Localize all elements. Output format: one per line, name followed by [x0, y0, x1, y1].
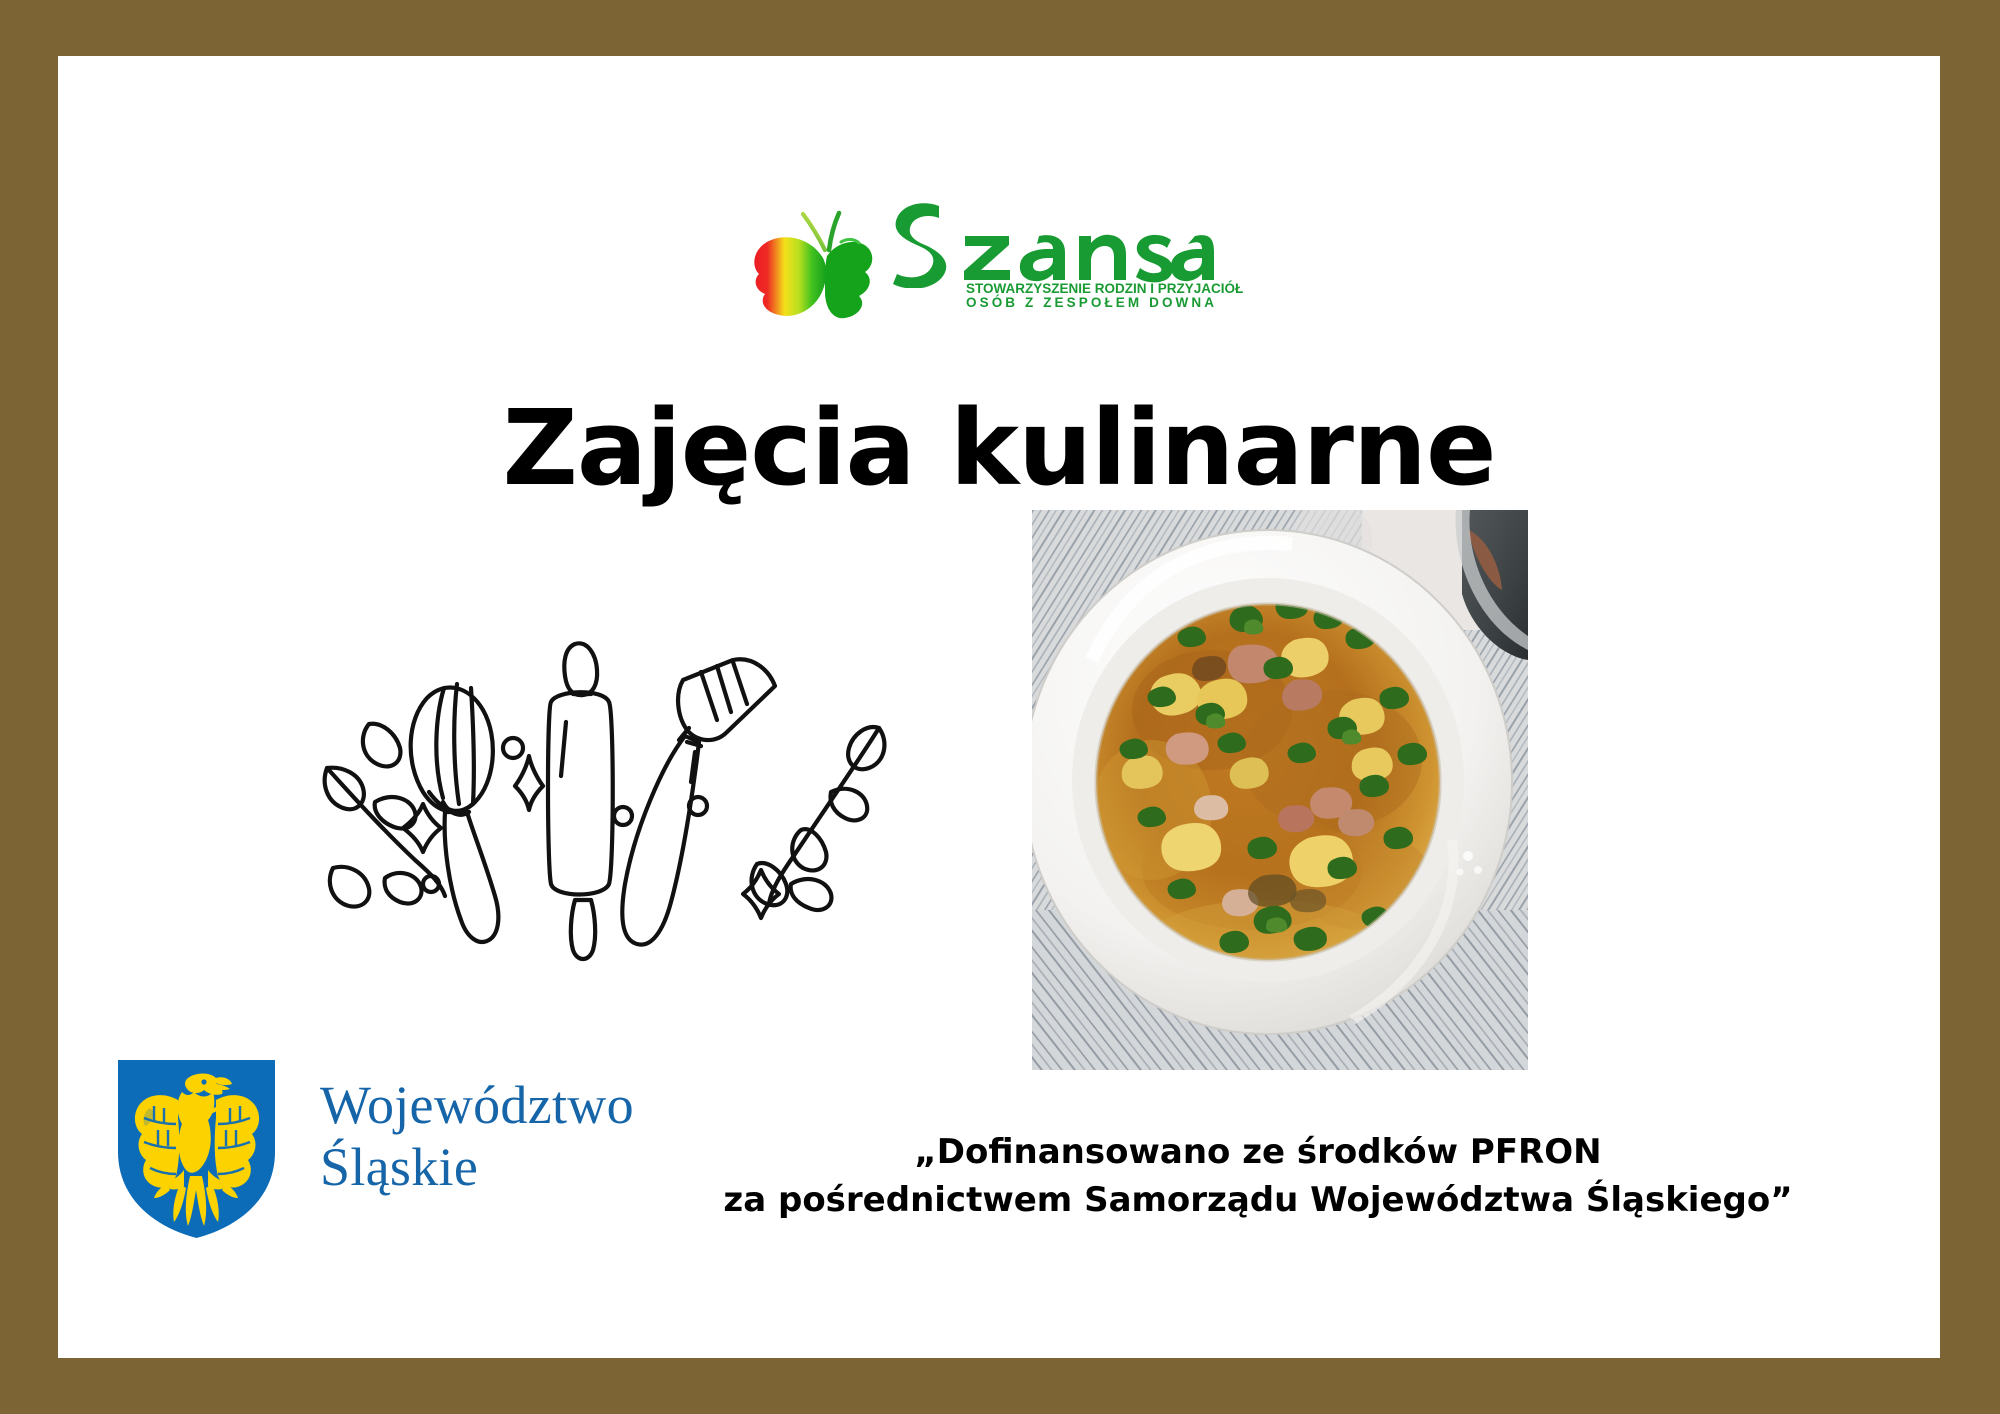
- tagline-line-2: OSÓB Z ZESPOŁEM DOWNA: [966, 296, 1214, 310]
- poster-canvas: STOWARZYSZENIE RODZIN I PRZYJACIÓŁ OSÓB …: [58, 56, 1940, 1358]
- wojewodztwo-slaskie-logo: Województwo Śląskie: [114, 1056, 674, 1241]
- leaf-branch-icon: [752, 727, 885, 910]
- poster-root: STOWARZYSZENIE RODZIN I PRZYJACIÓŁ OSÓB …: [0, 0, 2000, 1414]
- circle-dot-icon: [614, 807, 632, 825]
- funding-line-2: za pośrednictwem Samorządu Województwa Ś…: [618, 1176, 1898, 1224]
- whisk-icon: [411, 684, 499, 942]
- page-title: Zajęcia kulinarne: [58, 386, 1940, 511]
- funding-line-1: „Dofinansowano ze środków PFRON: [618, 1128, 1898, 1176]
- szansa-tagline: STOWARZYSZENIE RODZIN I PRZYJACIÓŁ OSÓB …: [966, 282, 1214, 310]
- kitchen-utensils-doodle: [303, 616, 903, 976]
- voivodeship-name: Województwo Śląskie: [320, 1074, 634, 1198]
- butterfly-icon: [751, 208, 886, 320]
- circle-dot-icon: [503, 738, 523, 758]
- rolling-pin-icon: [548, 643, 613, 959]
- tagline-line-1: STOWARZYSZENIE RODZIN I PRZYJACIÓŁ: [966, 282, 1214, 296]
- funding-note: „Dofinansowano ze środków PFRON za pośre…: [618, 1128, 1898, 1225]
- szansa-wordmark: [879, 198, 1214, 288]
- voivodeship-line-2: Śląskie: [320, 1136, 634, 1198]
- szansa-logo: STOWARZYSZENIE RODZIN I PRZYJACIÓŁ OSÓB …: [751, 190, 1211, 320]
- voivodeship-line-1: Województwo: [320, 1074, 634, 1136]
- sparkle-icon: [515, 756, 543, 810]
- silesian-eagle-coat-of-arms: [114, 1056, 279, 1241]
- soup-photo: [1032, 510, 1528, 1070]
